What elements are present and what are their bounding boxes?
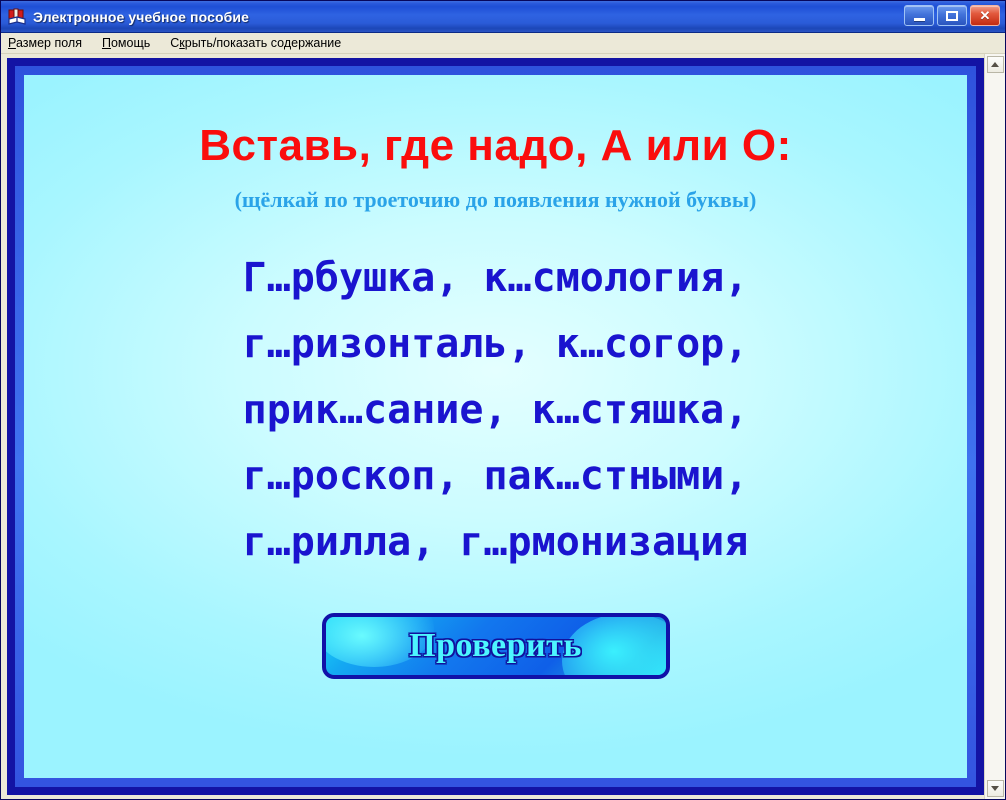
minimize-button[interactable]: [904, 5, 934, 26]
exercise-content: Вставь, где надо, А или О: (щёлкай по тр…: [24, 75, 967, 778]
window-body: Вставь, где надо, А или О: (щёлкай по тр…: [1, 54, 1005, 799]
outer-frame: Вставь, где надо, А или О: (щёлкай по тр…: [7, 58, 984, 795]
menu-label-accelerator: Р: [8, 36, 16, 50]
menu-label-suffix: омощь: [111, 36, 150, 50]
scrollbar-track[interactable]: [985, 73, 1005, 780]
menu-label-accelerator: П: [102, 36, 111, 50]
menu-label-suffix: азмер поля: [16, 36, 82, 50]
maximize-button[interactable]: [937, 5, 967, 26]
window-controls: ✕: [904, 5, 1000, 26]
word-line[interactable]: г…ризонталь, к…согор,: [24, 311, 967, 377]
frame-area: Вставь, где надо, А или О: (щёлкай по тр…: [1, 54, 984, 799]
close-button[interactable]: ✕: [970, 5, 1000, 26]
application-window: Электронное учебное пособие ✕ Размер пол…: [0, 0, 1006, 800]
menu-label-suffix: рыть/показать содержание: [185, 36, 341, 50]
check-button-wrapper: Проверить: [24, 613, 967, 679]
word-line[interactable]: прик…сание, к…стяшка,: [24, 377, 967, 443]
close-icon: ✕: [980, 10, 991, 22]
menu-bar: Размер поля Помощь Скрыть/показать содер…: [1, 33, 1005, 54]
word-line[interactable]: г…роскоп, пак…стными,: [24, 443, 967, 509]
menu-label-prefix: С: [170, 36, 179, 50]
chevron-up-icon: [991, 62, 999, 67]
exercise-subheading: (щёлкай по троеточию до появления нужной…: [235, 187, 757, 213]
exercise-heading: Вставь, где надо, А или О:: [199, 123, 792, 169]
scroll-down-button[interactable]: [987, 780, 1004, 797]
book-icon: [7, 7, 27, 27]
maximize-icon: [946, 11, 958, 21]
check-button-label: Проверить: [409, 627, 582, 665]
word-list: Г…рбушка, к…смология, г…ризонталь, к…сог…: [24, 245, 967, 575]
check-button[interactable]: Проверить: [322, 613, 670, 679]
title-bar: Электронное учебное пособие ✕: [1, 1, 1005, 33]
inner-frame: Вставь, где надо, А или О: (щёлкай по тр…: [15, 66, 976, 787]
menu-item-field-size[interactable]: Размер поля: [6, 36, 92, 50]
minimize-icon: [914, 18, 925, 21]
window-title: Электронное учебное пособие: [33, 9, 249, 25]
scroll-up-button[interactable]: [987, 56, 1004, 73]
word-line[interactable]: г…рилла, г…рмонизация: [24, 509, 967, 575]
menu-item-toggle-contents[interactable]: Скрыть/показать содержание: [168, 36, 351, 50]
word-line[interactable]: Г…рбушка, к…смология,: [24, 245, 967, 311]
vertical-scrollbar[interactable]: [984, 54, 1005, 799]
chevron-down-icon: [991, 786, 999, 791]
menu-item-help[interactable]: Помощь: [100, 36, 160, 50]
